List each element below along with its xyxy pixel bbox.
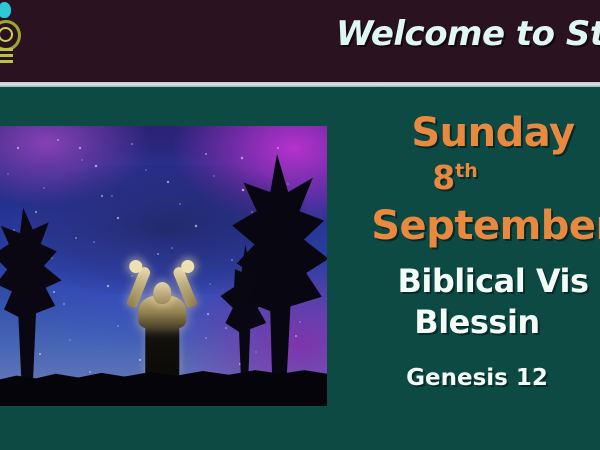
praying-figure [119, 252, 205, 392]
announcement-text: Sunday 8th September Biblical Vis Blessi… [343, 100, 600, 420]
scripture-reference: Genesis 12 [343, 365, 600, 391]
welcome-title: Welcome to St. I [336, 14, 600, 54]
starry-night-photo [0, 126, 327, 406]
logo-bar-icon [0, 48, 13, 51]
announcement-month: September [343, 203, 600, 249]
figure-hand-left [129, 260, 142, 273]
announcement-theme-line-2: Blessin [343, 303, 600, 341]
logo-flame-icon [0, 2, 11, 18]
announcement-day-number: 8 [432, 158, 455, 197]
announcement-day: 8th [343, 158, 567, 197]
church-logo [0, 2, 20, 68]
logo-bar-icon [0, 60, 13, 63]
figure-head [153, 282, 171, 304]
announcement-day-suffix: th [455, 160, 478, 182]
announcement-weekday: Sunday [343, 110, 600, 156]
logo-bar-icon [0, 54, 13, 57]
figure-hand-right [181, 260, 194, 273]
header-divider [0, 82, 600, 87]
announcement-theme-line-1: Biblical Vis [343, 262, 600, 300]
header-bar: Welcome to St. I [0, 0, 600, 82]
welcome-slide: Welcome to St. I Sunday 8th September Bi… [0, 0, 600, 450]
